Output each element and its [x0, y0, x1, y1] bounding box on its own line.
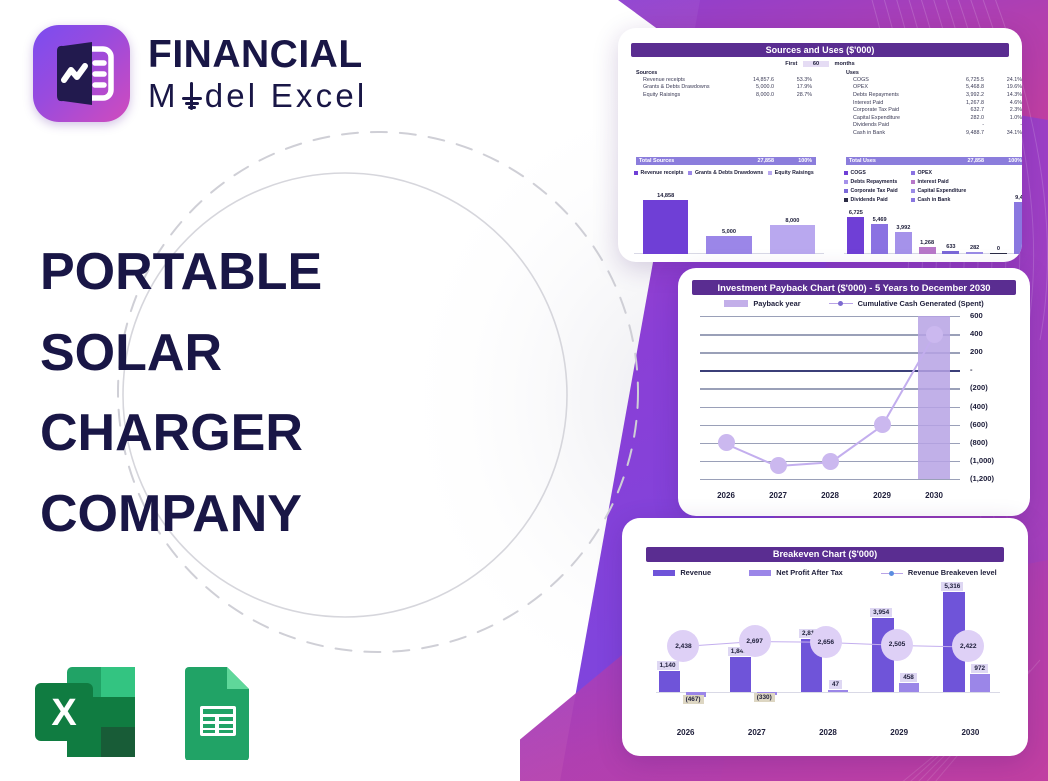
card3-breakeven-bubble: 2,697 — [739, 625, 771, 657]
card1-uses-legend-swatch — [911, 171, 915, 175]
card1-sources-bar-label: 5,000 — [697, 229, 760, 235]
card2-y-tick-label: 400 — [970, 329, 983, 338]
card1-sources-bar-label: 8,000 — [761, 218, 824, 224]
card1-source-pct: 28.7% — [782, 92, 812, 98]
card1-use-value: 1,267.8 — [944, 100, 984, 106]
brand-line-2-pre: M — [148, 79, 179, 112]
logo-glyph — [33, 25, 130, 122]
card1-use-value: 9,488.7 — [944, 130, 984, 136]
card1-uses-bar-label: 282 — [963, 245, 987, 251]
card2-data-point — [770, 457, 787, 474]
card3-revenue-label: 5,316 — [941, 582, 963, 591]
card1-uses-bar — [966, 252, 983, 254]
card3-breakeven-bubble: 2,656 — [810, 626, 842, 658]
card1-uses-legend-swatch — [911, 180, 915, 184]
card3-npat-bar — [970, 674, 990, 692]
card1-first-value[interactable]: 60 — [803, 61, 829, 67]
card1-uses-bar — [847, 217, 864, 254]
card1-sources-legend-label: Grants & Debts Drawdowns — [695, 170, 763, 176]
card3-npat-label: (330) — [754, 693, 775, 702]
card-sources-and-uses[interactable]: Sources and Uses ($'000) First 60 months… — [618, 28, 1022, 262]
card1-use-value: 6,725.5 — [944, 77, 984, 83]
card3-legend-swatch-breakeven — [881, 570, 903, 576]
card2-y-tick-label: 200 — [970, 347, 983, 356]
card1-sources-legend-item: Revenue receipts — [634, 170, 683, 176]
card1-uses-legend-item: COGS — [844, 170, 904, 176]
card1-sources-legend-item: Equity Raisings — [768, 170, 813, 176]
card1-use-value: 632.7 — [944, 107, 984, 113]
card1-uses-table: Uses COGS6,725.524.1%OPEX5,468.819.6%Deb… — [846, 70, 1022, 137]
card1-total-uses-value: 27,858 — [944, 157, 984, 165]
card2-x-tick-label: 2026 — [700, 491, 752, 500]
card1-use-row: OPEX5,468.819.6% — [846, 84, 1022, 92]
card1-total-sources-row: Total Sources 27,858 100% — [636, 157, 816, 165]
card3-npat-label: 458 — [900, 673, 917, 682]
card1-use-pct: 24.1% — [992, 77, 1022, 83]
card1-sources-legend-swatch — [768, 171, 772, 175]
card1-uses-bar — [895, 232, 912, 254]
card1-uses-bar-label: 5,469 — [868, 217, 892, 223]
card1-sources-legend-swatch — [688, 171, 692, 175]
card2-legend-swatch-bar — [724, 300, 748, 307]
card3-baseline — [656, 692, 1000, 693]
card1-source-pct: 53.3% — [782, 77, 812, 83]
card1-use-pct: 4.6% — [992, 100, 1022, 106]
card2-y-tick-label: (1,200) — [970, 474, 994, 483]
card3-x-tick-label: 2029 — [864, 728, 935, 737]
card1-first-label: First — [785, 61, 797, 67]
card2-data-point — [718, 434, 735, 451]
card-breakeven[interactable]: Breakeven Chart ($'000) Revenue Net Prof… — [622, 518, 1028, 756]
card1-source-value: 5,000.0 — [734, 84, 774, 90]
card3-npat-label: 47 — [829, 680, 842, 689]
card3-title: Breakeven Chart ($'000) — [646, 547, 1004, 562]
card1-use-row: COGS6,725.524.1% — [846, 76, 1022, 84]
card2-x-tick-label: 2028 — [804, 491, 856, 500]
card1-source-row: Equity Raisings8,000.028.7% — [636, 91, 816, 99]
card1-use-pct: 14.3% — [992, 92, 1022, 98]
card1-use-name: Corporate Tax Paid — [846, 107, 899, 113]
card1-total-sources-pct: 100% — [782, 157, 812, 165]
card1-sources-bar-label: 14,858 — [634, 193, 697, 199]
card2-data-point — [874, 416, 891, 433]
card1-uses-bar — [1014, 202, 1022, 254]
card1-uses-legend-label: OPEX — [918, 170, 932, 176]
card1-source-name: Revenue receipts — [636, 77, 685, 83]
card1-months-label: months — [835, 61, 855, 67]
card1-uses-bar — [990, 253, 1007, 254]
card3-legend-swatch-npat — [749, 570, 771, 576]
card1-use-row: Cash in Bank9,488.734.1% — [846, 129, 1022, 137]
card2-y-tick-label: (400) — [970, 402, 988, 411]
card2-title: Investment Payback Chart ($'000) - 5 Yea… — [692, 280, 1016, 295]
card1-uses-bar-label: 0 — [987, 246, 1011, 252]
card3-legend-label-revenue: Revenue — [680, 568, 711, 577]
card1-uses-legend-item: Interest Paid — [911, 179, 971, 185]
card3-revenue-bar — [659, 671, 680, 692]
card3-revenue-bar — [730, 657, 751, 692]
card3-legend: Revenue Net Profit After Tax Revenue Bre… — [622, 568, 1028, 577]
card3-breakeven-bubble: 2,505 — [881, 629, 913, 661]
card1-source-name: Grants & Debts Drawdowns — [636, 84, 710, 90]
card1-use-name: Interest Paid — [846, 100, 883, 106]
card1-title: Sources and Uses ($'000) — [631, 43, 1009, 57]
card1-use-pct: 1.0% — [992, 115, 1022, 121]
card1-sources-legend-label: Equity Raisings — [775, 170, 814, 176]
card2-legend-swatch-line — [829, 300, 853, 307]
card3-breakeven-bubble: 2,438 — [667, 630, 699, 662]
svg-text:X: X — [51, 692, 77, 734]
card2-y-tick-label: (600) — [970, 420, 988, 429]
card1-use-row: Capital Expenditure282.01.0% — [846, 114, 1022, 122]
card2-y-tick-label: - — [970, 365, 973, 374]
card1-use-name: Capital Expenditure — [846, 115, 900, 121]
card1-use-pct: 34.1% — [992, 130, 1022, 136]
card1-use-pct: 19.6% — [992, 84, 1022, 90]
card1-use-name: Debts Repayments — [846, 92, 899, 98]
card1-source-value: 14,857.6 — [734, 77, 774, 83]
microsoft-excel-icon: X — [33, 664, 139, 760]
headline-line-3: CHARGER — [40, 393, 400, 474]
card2-x-tick-label: 2029 — [856, 491, 908, 500]
card1-use-name: Dividends Paid — [846, 122, 889, 128]
card3-breakeven-bubble: 2,422 — [952, 630, 984, 662]
card2-legend-label-line: Cumulative Cash Generated (Spent) — [858, 299, 984, 308]
card1-total-sources-label: Total Sources — [636, 158, 674, 164]
card1-uses-legend-item: OPEX — [911, 170, 971, 176]
card3-x-tick-label: 2027 — [721, 728, 792, 737]
card3-x-tick-label: 2028 — [792, 728, 863, 737]
card1-use-row: Debts Repayments3,992.214.3% — [846, 91, 1022, 99]
card1-total-sources-value: 27,858 — [734, 157, 774, 165]
brand-logo: FINANCIAL M del Excel — [33, 25, 367, 122]
card2-y-tick-label: 600 — [970, 311, 983, 320]
card2-y-tick-label: (800) — [970, 438, 988, 447]
card1-sources-bar — [770, 225, 816, 254]
card3-plot-area: 1,1401,8482,8143,9545,316(467)(330)47458… — [650, 588, 1006, 706]
card2-legend-label-bar: Payback year — [753, 299, 800, 308]
card1-sources-table: Sources Revenue receipts14,857.653.3%Gra… — [636, 70, 816, 99]
card1-source-value: 8,000.0 — [734, 92, 774, 98]
card1-uses-bar-label: 3,992 — [892, 225, 916, 231]
card1-total-uses-pct: 100% — [992, 157, 1022, 165]
brand-o-glyph-icon — [179, 79, 205, 112]
card3-legend-label-breakeven: Revenue Breakeven level — [908, 568, 997, 577]
brand-line-2: M del Excel — [148, 79, 367, 112]
card1-use-name: COGS — [846, 77, 869, 83]
card1-use-pct: - — [992, 122, 1022, 128]
card1-sources-bar — [643, 200, 689, 254]
card1-use-value: - — [944, 122, 984, 128]
card1-sources-bar-chart: 14,8585,0008,000 — [634, 186, 824, 254]
card3-revenue-label: 1,140 — [657, 661, 679, 670]
card1-use-name: Cash in Bank — [846, 130, 885, 136]
brand-line-1: FINANCIAL — [148, 35, 367, 74]
card1-sources-legend-swatch — [634, 171, 638, 175]
card1-sources-legend: Revenue receiptsGrants & Debts Drawdowns… — [634, 170, 824, 176]
card1-first-months: First 60 months — [618, 61, 1022, 67]
card1-source-pct: 17.9% — [782, 84, 812, 90]
card1-use-value: 282.0 — [944, 115, 984, 121]
card-investment-payback[interactable]: Investment Payback Chart ($'000) - 5 Yea… — [678, 268, 1030, 516]
card1-use-row: Dividends Paid-- — [846, 122, 1022, 130]
card3-npat-bar — [899, 683, 919, 692]
card2-plot-area — [700, 316, 960, 479]
card1-use-name: OPEX — [846, 84, 868, 90]
card1-use-value: 5,468.8 — [944, 84, 984, 90]
card1-source-row: Revenue receipts14,857.653.3% — [636, 76, 816, 84]
card1-sources-legend-item: Grants & Debts Drawdowns — [688, 170, 763, 176]
card1-total-uses-label: Total Uses — [846, 158, 876, 164]
card3-legend-label-npat: Net Profit After Tax — [776, 568, 843, 577]
card3-npat-label: (467) — [683, 695, 704, 704]
card1-source-row: Grants & Debts Drawdowns5,000.017.9% — [636, 84, 816, 92]
card2-legend: Payback yearCumulative Cash Generated (S… — [678, 299, 1030, 308]
card1-uses-bar-label: 1,268 — [915, 240, 939, 246]
card1-sources-legend-label: Revenue receipts — [641, 170, 684, 176]
card1-sources-bar — [706, 236, 752, 254]
card2-x-tick-label: 2027 — [752, 491, 804, 500]
card1-uses-legend-swatch — [844, 180, 848, 184]
card1-use-row: Corporate Tax Paid632.72.3% — [846, 106, 1022, 114]
card1-uses-bar — [942, 251, 959, 254]
card2-x-tick-label: 2030 — [908, 491, 960, 500]
headline-line-4: COMPANY — [40, 474, 400, 555]
card3-npat-label: 972 — [971, 664, 988, 673]
card1-uses-bar — [871, 224, 888, 254]
card1-uses-bar-label: 9,489 — [1010, 195, 1022, 201]
card3-revenue-label: 3,954 — [870, 608, 892, 617]
headline-line-1: PORTABLE — [40, 232, 400, 313]
card3-x-tick-label: 2026 — [650, 728, 721, 737]
card1-use-pct: 2.3% — [992, 107, 1022, 113]
card1-source-name: Equity Raisings — [636, 92, 680, 98]
card2-gridline — [700, 479, 960, 480]
card1-uses-legend-item: Debts Repayments — [844, 179, 904, 185]
card1-uses-legend-label: Debts Repayments — [851, 179, 898, 185]
card1-uses-bar-label: 633 — [939, 244, 963, 250]
card1-total-uses-row: Total Uses 27,858 100% — [846, 157, 1022, 165]
card2-y-tick-label: (200) — [970, 383, 988, 392]
card1-use-row: Interest Paid1,267.84.6% — [846, 99, 1022, 107]
card3-x-tick-label: 2030 — [935, 728, 1006, 737]
financial-model-logo-icon — [33, 25, 130, 122]
app-format-icons: X — [33, 664, 255, 760]
page-title: PORTABLE SOLAR CHARGER COMPANY — [40, 232, 400, 554]
card1-use-value: 3,992.2 — [944, 92, 984, 98]
card3-legend-swatch-revenue — [653, 570, 675, 576]
card1-uses-bar — [919, 247, 936, 254]
card1-uses-legend-label: COGS — [851, 170, 866, 176]
card2-data-point — [926, 326, 943, 343]
headline-line-2: SOLAR — [40, 313, 400, 394]
card2-y-tick-label: (1,000) — [970, 456, 994, 465]
card1-uses-bar-chart: 6,7255,4693,9921,26863328209,489 — [844, 186, 1022, 254]
card2-data-point — [822, 453, 839, 470]
google-sheets-icon — [181, 664, 255, 760]
card1-uses-legend-label: Interest Paid — [918, 179, 949, 185]
card1-uses-legend-swatch — [844, 171, 848, 175]
brand-line-2-post: del Excel — [205, 79, 368, 112]
card1-uses-bar-label: 6,725 — [844, 210, 868, 216]
card3-npat-bar — [828, 690, 848, 692]
